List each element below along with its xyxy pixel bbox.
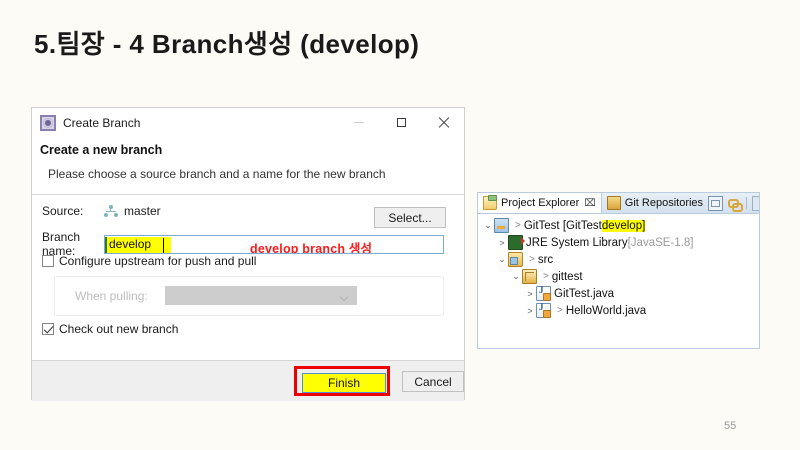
- source-row: Source: master Select...: [42, 204, 456, 218]
- chevron-down-icon[interactable]: ⌄: [510, 271, 522, 282]
- dialog-footer: Finish Cancel: [32, 360, 464, 401]
- create-branch-dialog: Create Branch Create a new branch Please…: [31, 107, 465, 400]
- tree-item-label-version: [JavaSE-1.8]: [628, 237, 694, 249]
- input-left-marker: [105, 237, 107, 254]
- configure-upstream-row[interactable]: Configure upstream for push and pull: [42, 254, 256, 268]
- dialog-heading: Create a new branch: [40, 143, 464, 157]
- branch-name-value: develop: [109, 237, 151, 251]
- tree-item-label: JRE System Library: [526, 237, 628, 249]
- when-pulling-combo[interactable]: [165, 286, 357, 305]
- branch-name-input[interactable]: develop develop branch 생성: [104, 235, 444, 254]
- maximize-icon: [397, 118, 406, 127]
- chevron-right-icon[interactable]: >: [496, 238, 508, 248]
- tree-item-src[interactable]: ⌄ > src: [478, 251, 759, 268]
- dialog-titlebar: Create Branch: [32, 108, 464, 137]
- close-button[interactable]: [422, 108, 464, 137]
- when-pulling-group: When pulling:: [54, 276, 444, 316]
- slide-canvas: 5.팀장 - 4 Branch생성 (develop) Create Branc…: [0, 0, 800, 450]
- explorer-toolbar: [708, 196, 760, 211]
- git-repositories-icon: [607, 196, 621, 210]
- minimize-button[interactable]: [338, 108, 380, 137]
- decorator-arrow: >: [543, 271, 549, 282]
- close-icon: [438, 117, 449, 128]
- dialog-header: Create a new branch Please choose a sour…: [32, 137, 464, 195]
- package-icon: [522, 269, 537, 284]
- link-with-editor-icon[interactable]: [728, 197, 741, 210]
- decorator-arrow: >: [515, 220, 521, 231]
- tree-item-label-highlight: develop]: [602, 220, 645, 232]
- close-icon[interactable]: ⌧: [584, 198, 596, 209]
- tree-item-gittest-package[interactable]: ⌄ > gittest: [478, 268, 759, 285]
- tree-item-label: src: [538, 254, 553, 266]
- chevron-right-icon[interactable]: >: [524, 306, 536, 316]
- tab-project-explorer-label: Project Explorer: [501, 197, 579, 209]
- tree-item-label: gittest: [552, 271, 583, 283]
- chevron-down-icon[interactable]: ⌄: [482, 220, 494, 231]
- tree-item-helloworld-java[interactable]: > > HelloWorld.java: [478, 302, 759, 319]
- cancel-button[interactable]: Cancel: [402, 371, 464, 392]
- page-number: 55: [724, 420, 736, 432]
- toolbar-divider: [746, 197, 747, 209]
- explorer-tree: ⌄ > GitTest [GitTest develop] > JRE Syst…: [478, 214, 759, 349]
- explorer-tab-bar: Project Explorer ⌧ Git Repositories: [478, 193, 759, 214]
- window-buttons: [338, 108, 464, 137]
- java-file-icon: [536, 286, 551, 301]
- decorator-arrow: >: [557, 305, 563, 316]
- check-out-new-branch-label: Check out new branch: [59, 322, 178, 336]
- dialog-body: Source: master Select... Branch name: de…: [32, 195, 464, 360]
- source-label: Source:: [42, 204, 104, 218]
- dialog-subheading: Please choose a source branch and a name…: [48, 167, 464, 181]
- check-out-new-branch-row[interactable]: Check out new branch: [42, 322, 178, 336]
- source-folder-icon: [508, 252, 523, 267]
- annotation-text: develop branch 생성: [250, 238, 372, 254]
- text-caret: [163, 238, 164, 253]
- eclipse-branch-icon: [40, 115, 56, 131]
- tree-item-label: HelloWorld.java: [566, 305, 646, 317]
- jre-library-icon: [508, 235, 523, 250]
- page-title: 5.팀장 - 4 Branch생성 (develop): [34, 24, 419, 61]
- finish-highlight-box: Finish: [294, 366, 390, 396]
- chevron-down-icon: [341, 294, 348, 301]
- git-branch-icon: [104, 205, 118, 217]
- tab-project-explorer[interactable]: Project Explorer ⌧: [478, 193, 602, 213]
- tree-item-label: GitTest [GitTest: [524, 220, 602, 232]
- chevron-down-icon[interactable]: ⌄: [496, 254, 508, 265]
- project-explorer-view: Project Explorer ⌧ Git Repositories ⌄ > …: [477, 192, 760, 349]
- decorator-arrow: >: [529, 254, 535, 265]
- project-explorer-icon: [483, 196, 497, 210]
- tree-item-gittest-java[interactable]: > GitTest.java: [478, 285, 759, 302]
- tab-git-repositories-label: Git Repositories: [625, 197, 703, 209]
- check-out-new-branch-checkbox[interactable]: [42, 323, 54, 335]
- configure-upstream-label: Configure upstream for push and pull: [59, 254, 256, 268]
- view-menu-icon[interactable]: [752, 196, 760, 211]
- tree-item-gittest-project[interactable]: ⌄ > GitTest [GitTest develop]: [478, 217, 759, 234]
- chevron-right-icon[interactable]: >: [524, 289, 536, 299]
- configure-upstream-checkbox[interactable]: [42, 255, 54, 267]
- tab-git-repositories[interactable]: Git Repositories: [602, 193, 708, 213]
- when-pulling-label: When pulling:: [75, 289, 148, 303]
- project-icon: [494, 218, 509, 233]
- dialog-title-label: Create Branch: [63, 116, 140, 130]
- select-button[interactable]: Select...: [374, 207, 446, 228]
- tree-item-label: GitTest.java: [554, 288, 614, 300]
- tree-item-jre-system-library[interactable]: > JRE System Library [JavaSE-1.8]: [478, 234, 759, 251]
- minimize-icon: [354, 122, 364, 123]
- maximize-button[interactable]: [380, 108, 422, 137]
- minimize-view-icon[interactable]: [708, 196, 723, 211]
- java-file-icon: [536, 303, 551, 318]
- source-value: master: [124, 204, 161, 218]
- finish-button[interactable]: Finish: [302, 373, 386, 393]
